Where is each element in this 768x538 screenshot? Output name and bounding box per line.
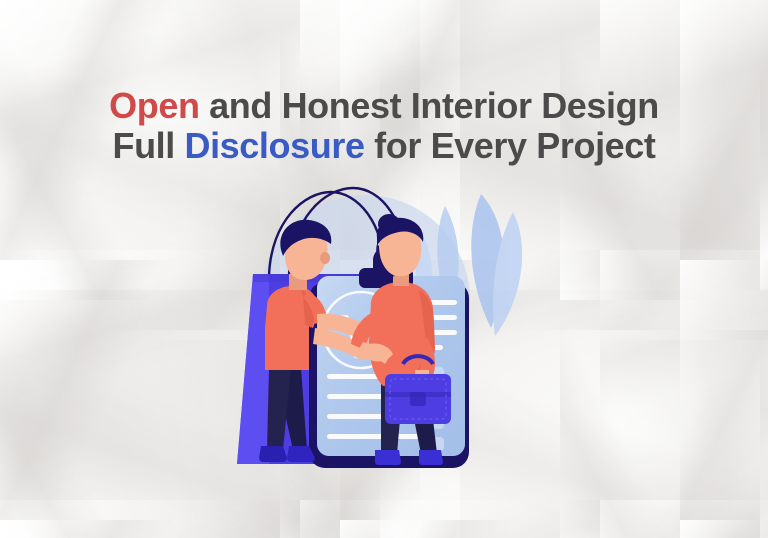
- person-left-ear: [320, 252, 330, 264]
- person-right-bun: [378, 214, 400, 234]
- person-left-shoe-front: [259, 446, 287, 462]
- headline-line-1-rest: and Honest Interior Design: [200, 85, 659, 126]
- headline-line-2-prefix: Full: [112, 125, 184, 166]
- bag-side-panel: [237, 274, 269, 464]
- headline-line-1: Open and Honest Interior Design: [0, 86, 768, 126]
- person-right-shoe-left: [375, 450, 401, 465]
- handshake-agreement-illustration: [213, 178, 553, 488]
- headline-line-2-rest: for Every Project: [365, 125, 656, 166]
- briefcase-lock: [410, 392, 426, 406]
- headline-line-2: Full Disclosure for Every Project: [0, 126, 768, 166]
- headline-highlight-disclosure: Disclosure: [184, 125, 364, 166]
- page-title: Open and Honest Interior Design Full Dis…: [0, 86, 768, 167]
- person-right-shoe-right: [419, 450, 443, 465]
- headline-highlight-open: Open: [109, 85, 199, 126]
- banner-root: Open and Honest Interior Design Full Dis…: [0, 0, 768, 538]
